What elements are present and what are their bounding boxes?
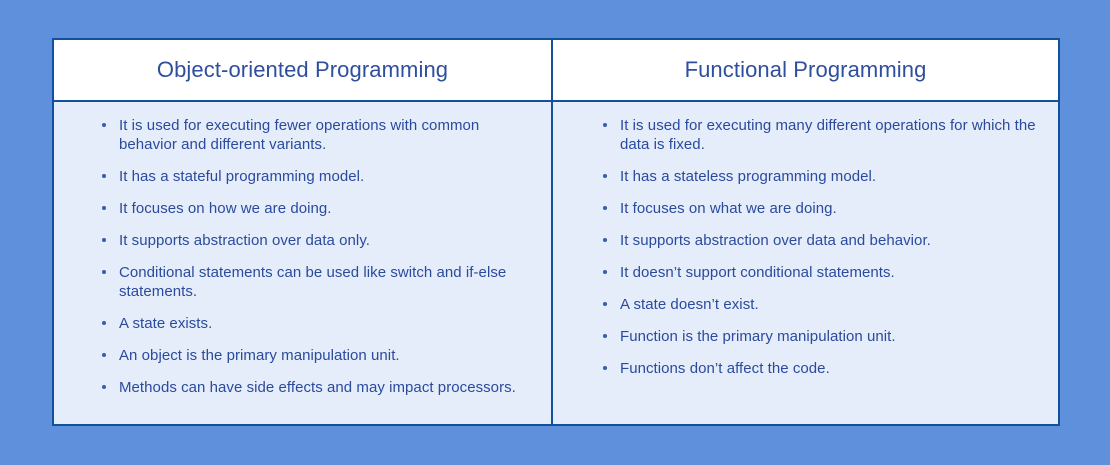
- body-cell-fp: It is used for executing many different …: [553, 102, 1058, 424]
- bullet-list-fp: It is used for executing many different …: [603, 116, 1042, 378]
- bullet-dot-icon: [102, 123, 106, 127]
- list-item: It supports abstraction over data and be…: [603, 231, 1042, 250]
- body-cell-oop: It is used for executing fewer operation…: [54, 102, 553, 424]
- list-item: A state exists.: [102, 314, 535, 333]
- list-item: It supports abstraction over data only.: [102, 231, 535, 250]
- list-item-text: It has a stateless programming model.: [620, 167, 1042, 186]
- bullet-dot-icon: [603, 302, 607, 306]
- list-item-text: Methods can have side effects and may im…: [119, 378, 535, 397]
- bullet-dot-icon: [102, 238, 106, 242]
- list-item: Functions don’t affect the code.: [603, 359, 1042, 378]
- bullet-dot-icon: [603, 123, 607, 127]
- list-item-text: A state exists.: [119, 314, 535, 333]
- list-item-text: A state doesn’t exist.: [620, 295, 1042, 314]
- list-item-text: It is used for executing many different …: [620, 116, 1042, 154]
- list-item: It has a stateful programming model.: [102, 167, 535, 186]
- table-body-row: It is used for executing fewer operation…: [54, 102, 1058, 424]
- list-item: An object is the primary manipulation un…: [102, 346, 535, 365]
- bullet-dot-icon: [603, 270, 607, 274]
- list-item: It is used for executing fewer operation…: [102, 116, 535, 154]
- list-item-text: Functions don’t affect the code.: [620, 359, 1042, 378]
- bullet-dot-icon: [603, 174, 607, 178]
- list-item-text: It doesn’t support conditional statement…: [620, 263, 1042, 282]
- bullet-dot-icon: [102, 174, 106, 178]
- list-item: Function is the primary manipulation uni…: [603, 327, 1042, 346]
- list-item: It focuses on what we are doing.: [603, 199, 1042, 218]
- list-item: Conditional statements can be used like …: [102, 263, 535, 301]
- page-canvas: Object-oriented Programming Functional P…: [0, 0, 1110, 465]
- bullet-dot-icon: [603, 366, 607, 370]
- comparison-table: Object-oriented Programming Functional P…: [52, 38, 1060, 426]
- list-item-text: It supports abstraction over data only.: [119, 231, 535, 250]
- bullet-dot-icon: [102, 206, 106, 210]
- list-item: It focuses on how we are doing.: [102, 199, 535, 218]
- table-header-row: Object-oriented Programming Functional P…: [54, 40, 1058, 102]
- header-cell-fp: Functional Programming: [553, 40, 1058, 100]
- list-item-text: It is used for executing fewer operation…: [119, 116, 535, 154]
- bullet-list-oop: It is used for executing fewer operation…: [102, 116, 535, 397]
- list-item-text: It focuses on what we are doing.: [620, 199, 1042, 218]
- list-item-text: Conditional statements can be used like …: [119, 263, 535, 301]
- list-item: It is used for executing many different …: [603, 116, 1042, 154]
- list-item-text: It focuses on how we are doing.: [119, 199, 535, 218]
- column-title-oop: Object-oriented Programming: [157, 58, 448, 82]
- column-title-fp: Functional Programming: [685, 58, 927, 82]
- bullet-dot-icon: [603, 238, 607, 242]
- bullet-dot-icon: [102, 270, 106, 274]
- list-item: Methods can have side effects and may im…: [102, 378, 535, 397]
- list-item-text: An object is the primary manipulation un…: [119, 346, 535, 365]
- bullet-dot-icon: [603, 334, 607, 338]
- bullet-dot-icon: [102, 321, 106, 325]
- bullet-dot-icon: [102, 385, 106, 389]
- list-item-text: It has a stateful programming model.: [119, 167, 535, 186]
- list-item-text: It supports abstraction over data and be…: [620, 231, 1042, 250]
- header-cell-oop: Object-oriented Programming: [54, 40, 553, 100]
- bullet-dot-icon: [603, 206, 607, 210]
- list-item-text: Function is the primary manipulation uni…: [620, 327, 1042, 346]
- list-item: A state doesn’t exist.: [603, 295, 1042, 314]
- bullet-dot-icon: [102, 353, 106, 357]
- list-item: It has a stateless programming model.: [603, 167, 1042, 186]
- list-item: It doesn’t support conditional statement…: [603, 263, 1042, 282]
